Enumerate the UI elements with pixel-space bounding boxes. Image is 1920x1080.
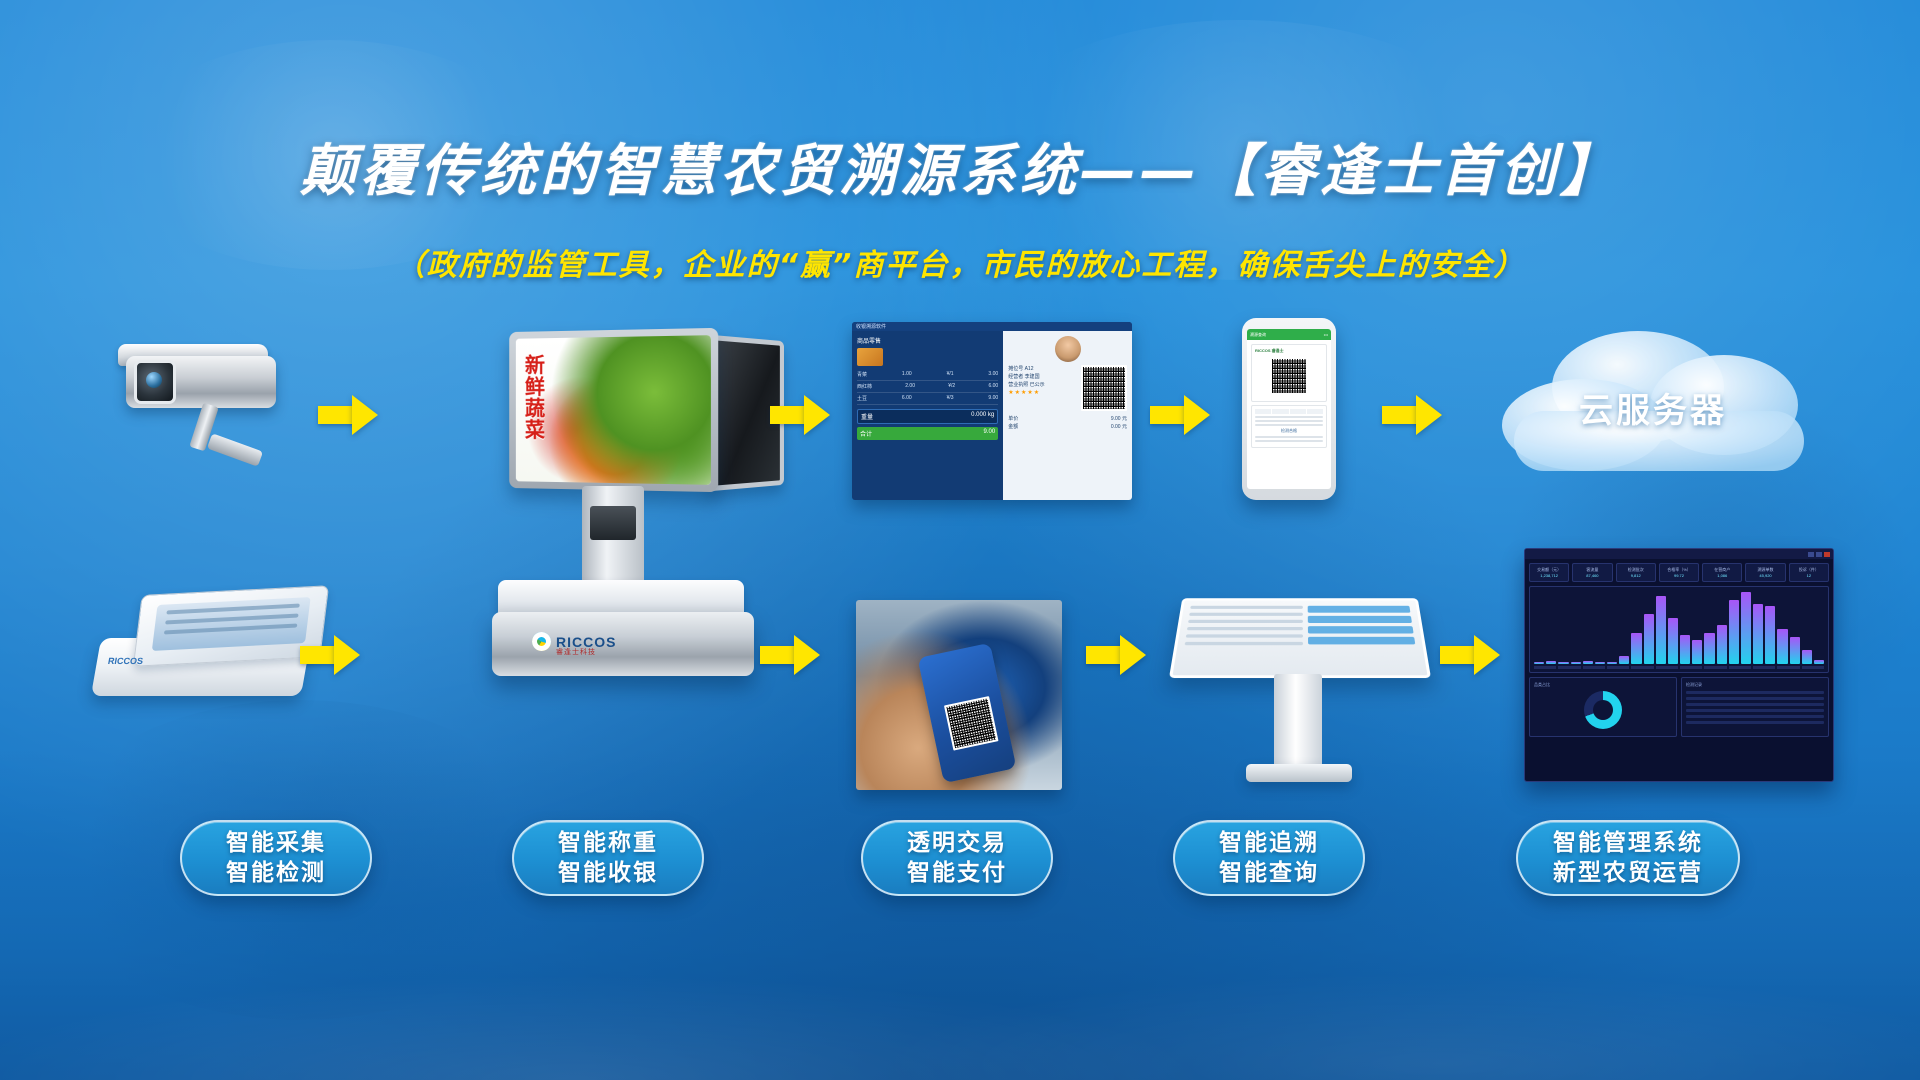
chart-bar xyxy=(1729,600,1739,664)
chart-bar xyxy=(1765,606,1775,664)
cashier-weight: 重量 0.000 kg xyxy=(857,409,998,424)
chart-bar xyxy=(1631,633,1641,664)
node-scan-pay xyxy=(856,600,1062,790)
cashier-item-unit: ¥/1 xyxy=(947,371,954,378)
cashier-item-sum: 6.00 xyxy=(988,383,998,390)
pos-ad-image: 新鲜蔬菜 xyxy=(516,335,711,485)
cloud-label: 云服务器 xyxy=(1488,383,1818,432)
cashier-app-title: 收银溯源软件 xyxy=(856,323,886,330)
seller-field: 营业执照 已公示 xyxy=(1008,381,1077,389)
capsule-line-1: 智能采集 xyxy=(226,828,326,858)
arrow-cashier-to-phone xyxy=(1150,395,1214,435)
mobile-brand-card: RICCOS 睿逢士 xyxy=(1251,344,1327,402)
cashier-product-thumb xyxy=(857,348,883,366)
label-capsule-1: 智能采集 智能检测 xyxy=(180,820,372,896)
label-capsule-3: 透明交易 智能支付 xyxy=(861,820,1053,896)
chart-bar xyxy=(1607,662,1617,664)
chart-bar xyxy=(1656,596,1666,664)
mobile-header: 溯源查询 ••• xyxy=(1247,329,1331,340)
arrow-phone-to-cloud xyxy=(1382,395,1446,435)
node-pos-scale: 新鲜蔬菜 RICCOS 睿逢士科技 xyxy=(498,330,798,690)
arrow-camera-to-pos xyxy=(318,395,382,435)
kpi-card: 合格率（%） 99.72 xyxy=(1659,563,1699,582)
cashier-item-name: 土豆 xyxy=(857,395,867,402)
brand-subname: 睿逢士科技 xyxy=(556,647,596,657)
chart-bar xyxy=(1753,604,1763,664)
chart-bar xyxy=(1790,637,1800,664)
amount-row: 金额 0.00 元 xyxy=(1008,423,1127,431)
dashboard-titlebar xyxy=(1525,549,1833,559)
arrow-pos-to-cashier xyxy=(770,395,834,435)
arrow-tester-to-scale xyxy=(300,635,364,675)
seller-avatar xyxy=(1055,336,1081,362)
infographic-canvas: 颠覆传统的智慧农贸溯源系统——【睿逢士首创】 （政府的监管工具，企业的“赢”商平… xyxy=(0,0,1920,1080)
cashier-item-unit: ¥/2 xyxy=(948,383,955,390)
mobile-title: 溯源查询 xyxy=(1250,332,1266,338)
dashboard-panel-right: 检测记录 xyxy=(1681,677,1829,737)
mobile-menu-icon[interactable]: ••• xyxy=(1324,332,1328,337)
camera-body xyxy=(126,356,276,408)
brand-logo: RICCOS 睿逢士科技 xyxy=(532,632,616,651)
cashier-row: 青菜 1.00 ¥/1 3.00 xyxy=(857,369,998,381)
chart-bar xyxy=(1814,660,1824,664)
cashier-item-name: 青菜 xyxy=(857,371,867,378)
dashboard-panel-left: 品类占比 xyxy=(1529,677,1677,737)
capsule-line-2: 新型农贸运营 xyxy=(1553,858,1703,888)
cashier-item-sum: 3.00 xyxy=(988,371,998,378)
pos-column xyxy=(582,486,644,594)
kpi-card: 检测批次 9,812 xyxy=(1616,563,1656,582)
donut-chart xyxy=(1584,691,1622,729)
chart-bar xyxy=(1717,625,1727,664)
kiosk-buttons[interactable] xyxy=(1307,606,1419,669)
chart-bar xyxy=(1741,592,1751,664)
scan-phone xyxy=(918,643,1017,784)
chart-bar xyxy=(1692,640,1702,664)
pos-printer xyxy=(590,506,636,540)
chart-bar xyxy=(1534,662,1544,664)
capsule-line-2: 智能检测 xyxy=(226,858,326,888)
camera-base xyxy=(207,433,263,467)
mobile-table-header xyxy=(1255,409,1323,414)
mobile-brand: RICCOS 睿逢士 xyxy=(1255,348,1323,354)
kiosk-stem xyxy=(1274,674,1322,770)
capsule-line-1: 智能称重 xyxy=(558,828,658,858)
tester-brand: RICCOS xyxy=(107,656,144,666)
chart-bar xyxy=(1704,633,1714,664)
cashier-section-title: 商品零售 xyxy=(857,336,998,345)
kpi-card: 在营商户 1,086 xyxy=(1702,563,1742,582)
label-capsule-4: 智能追溯 智能查询 xyxy=(1173,820,1365,896)
bg-wave xyxy=(0,750,1920,1080)
cashier-item-qty: 2.00 xyxy=(905,383,915,390)
kpi-card: 客流量 87,460 xyxy=(1572,563,1612,582)
mobile-result-card: 检测合格 xyxy=(1251,405,1327,448)
kpi-card: 交易额（元） 1,238,712 xyxy=(1529,563,1569,582)
capsule-line-2: 智能支付 xyxy=(907,858,1007,888)
tester-screen xyxy=(152,597,311,651)
kiosk-list xyxy=(1181,606,1303,669)
page-title: 颠覆传统的智慧农贸溯源系统——【睿逢士首创】 xyxy=(0,126,1920,207)
chart-bar xyxy=(1802,650,1812,664)
mobile-result-text: 检测合格 xyxy=(1255,428,1323,434)
capsule-line-2: 智能收银 xyxy=(558,858,658,888)
cashier-item-name: 西红柿 xyxy=(857,383,872,390)
qr-code-icon xyxy=(944,696,999,751)
qr-code-icon xyxy=(1270,357,1308,395)
pos-main-display: 新鲜蔬菜 xyxy=(509,328,718,492)
kiosk-foot xyxy=(1246,764,1352,782)
camera-lens-icon xyxy=(134,360,176,404)
pos-ad-text: 新鲜蔬菜 xyxy=(523,354,544,441)
node-cashier-app: 收银溯源软件 商品零售 青菜 1.00 ¥/1 3.00 西红柿 2.00 ¥/… xyxy=(852,322,1132,500)
cashier-item-qty: 1.00 xyxy=(902,371,912,378)
capsule-line-2: 智能查询 xyxy=(1219,858,1319,888)
cashier-item-unit: ¥/3 xyxy=(947,395,954,402)
capsule-line-1: 透明交易 xyxy=(907,828,1007,858)
arrow-kiosk-to-dashboard xyxy=(1440,635,1504,675)
node-camera xyxy=(100,330,310,480)
kiosk-screen[interactable] xyxy=(1169,598,1431,678)
seller-field: 摊位号 A12 xyxy=(1008,365,1077,373)
close-icon[interactable] xyxy=(1824,552,1830,557)
chart-bar xyxy=(1680,635,1690,664)
chart-bar xyxy=(1619,656,1629,664)
capsule-line-1: 智能管理系统 xyxy=(1553,828,1703,858)
node-cloud-server: 云服务器 xyxy=(1488,325,1868,505)
seller-field: 经营者 李建国 xyxy=(1008,373,1077,381)
cashier-total: 合计 9.00 xyxy=(857,427,998,440)
qr-code-icon xyxy=(1081,365,1127,411)
cashier-item-qty: 6.00 xyxy=(902,395,912,402)
node-kiosk xyxy=(1176,588,1436,788)
chart-bar xyxy=(1668,618,1678,664)
riccos-mark-icon xyxy=(532,632,551,651)
cashier-row: 西红柿 2.00 ¥/2 6.00 xyxy=(857,381,998,393)
page-subtitle: （政府的监管工具，企业的“赢”商平台，市民的放心工程，确保舌尖上的安全） xyxy=(0,240,1920,284)
cashier-item-sum: 9.00 xyxy=(988,395,998,402)
bar-series xyxy=(1534,592,1824,664)
capsule-line-1: 智能追溯 xyxy=(1219,828,1319,858)
chart-axis xyxy=(1534,666,1824,669)
chart-bar xyxy=(1546,661,1556,664)
arrow-scanpay-to-kiosk xyxy=(1086,635,1150,675)
node-dashboard: 交易额（元） 1,238,712 客流量 87,460 检测批次 9,812 合… xyxy=(1524,548,1834,782)
cashier-row: 土豆 6.00 ¥/3 9.00 xyxy=(857,393,998,405)
seller-rating: ★★★★★ xyxy=(1008,389,1077,397)
arrow-scale-to-scanpay xyxy=(760,635,824,675)
chart-bar xyxy=(1644,614,1654,664)
kpi-card: 溯源单数 45,920 xyxy=(1745,563,1785,582)
chart-bar xyxy=(1595,662,1605,664)
label-capsule-5: 智能管理系统 新型农贸运营 xyxy=(1516,820,1740,896)
kpi-card: 投诉（件） 12 xyxy=(1789,563,1829,582)
chart-bar xyxy=(1558,662,1568,664)
dashboard-bar-chart xyxy=(1529,586,1829,673)
node-mobile-trace: 溯源查询 ••• RICCOS 睿逢士 检测合格 xyxy=(1242,318,1336,500)
price-row: 单价 9.00 元 xyxy=(1008,415,1127,423)
label-capsule-2: 智能称重 智能收银 xyxy=(512,820,704,896)
dashboard-kpis: 交易额（元） 1,238,712 客流量 87,460 检测批次 9,812 合… xyxy=(1525,559,1833,586)
chart-bar xyxy=(1777,629,1787,664)
chart-bar xyxy=(1571,662,1581,664)
chart-bar xyxy=(1583,661,1593,664)
cashier-titlebar: 收银溯源软件 xyxy=(852,322,1132,331)
